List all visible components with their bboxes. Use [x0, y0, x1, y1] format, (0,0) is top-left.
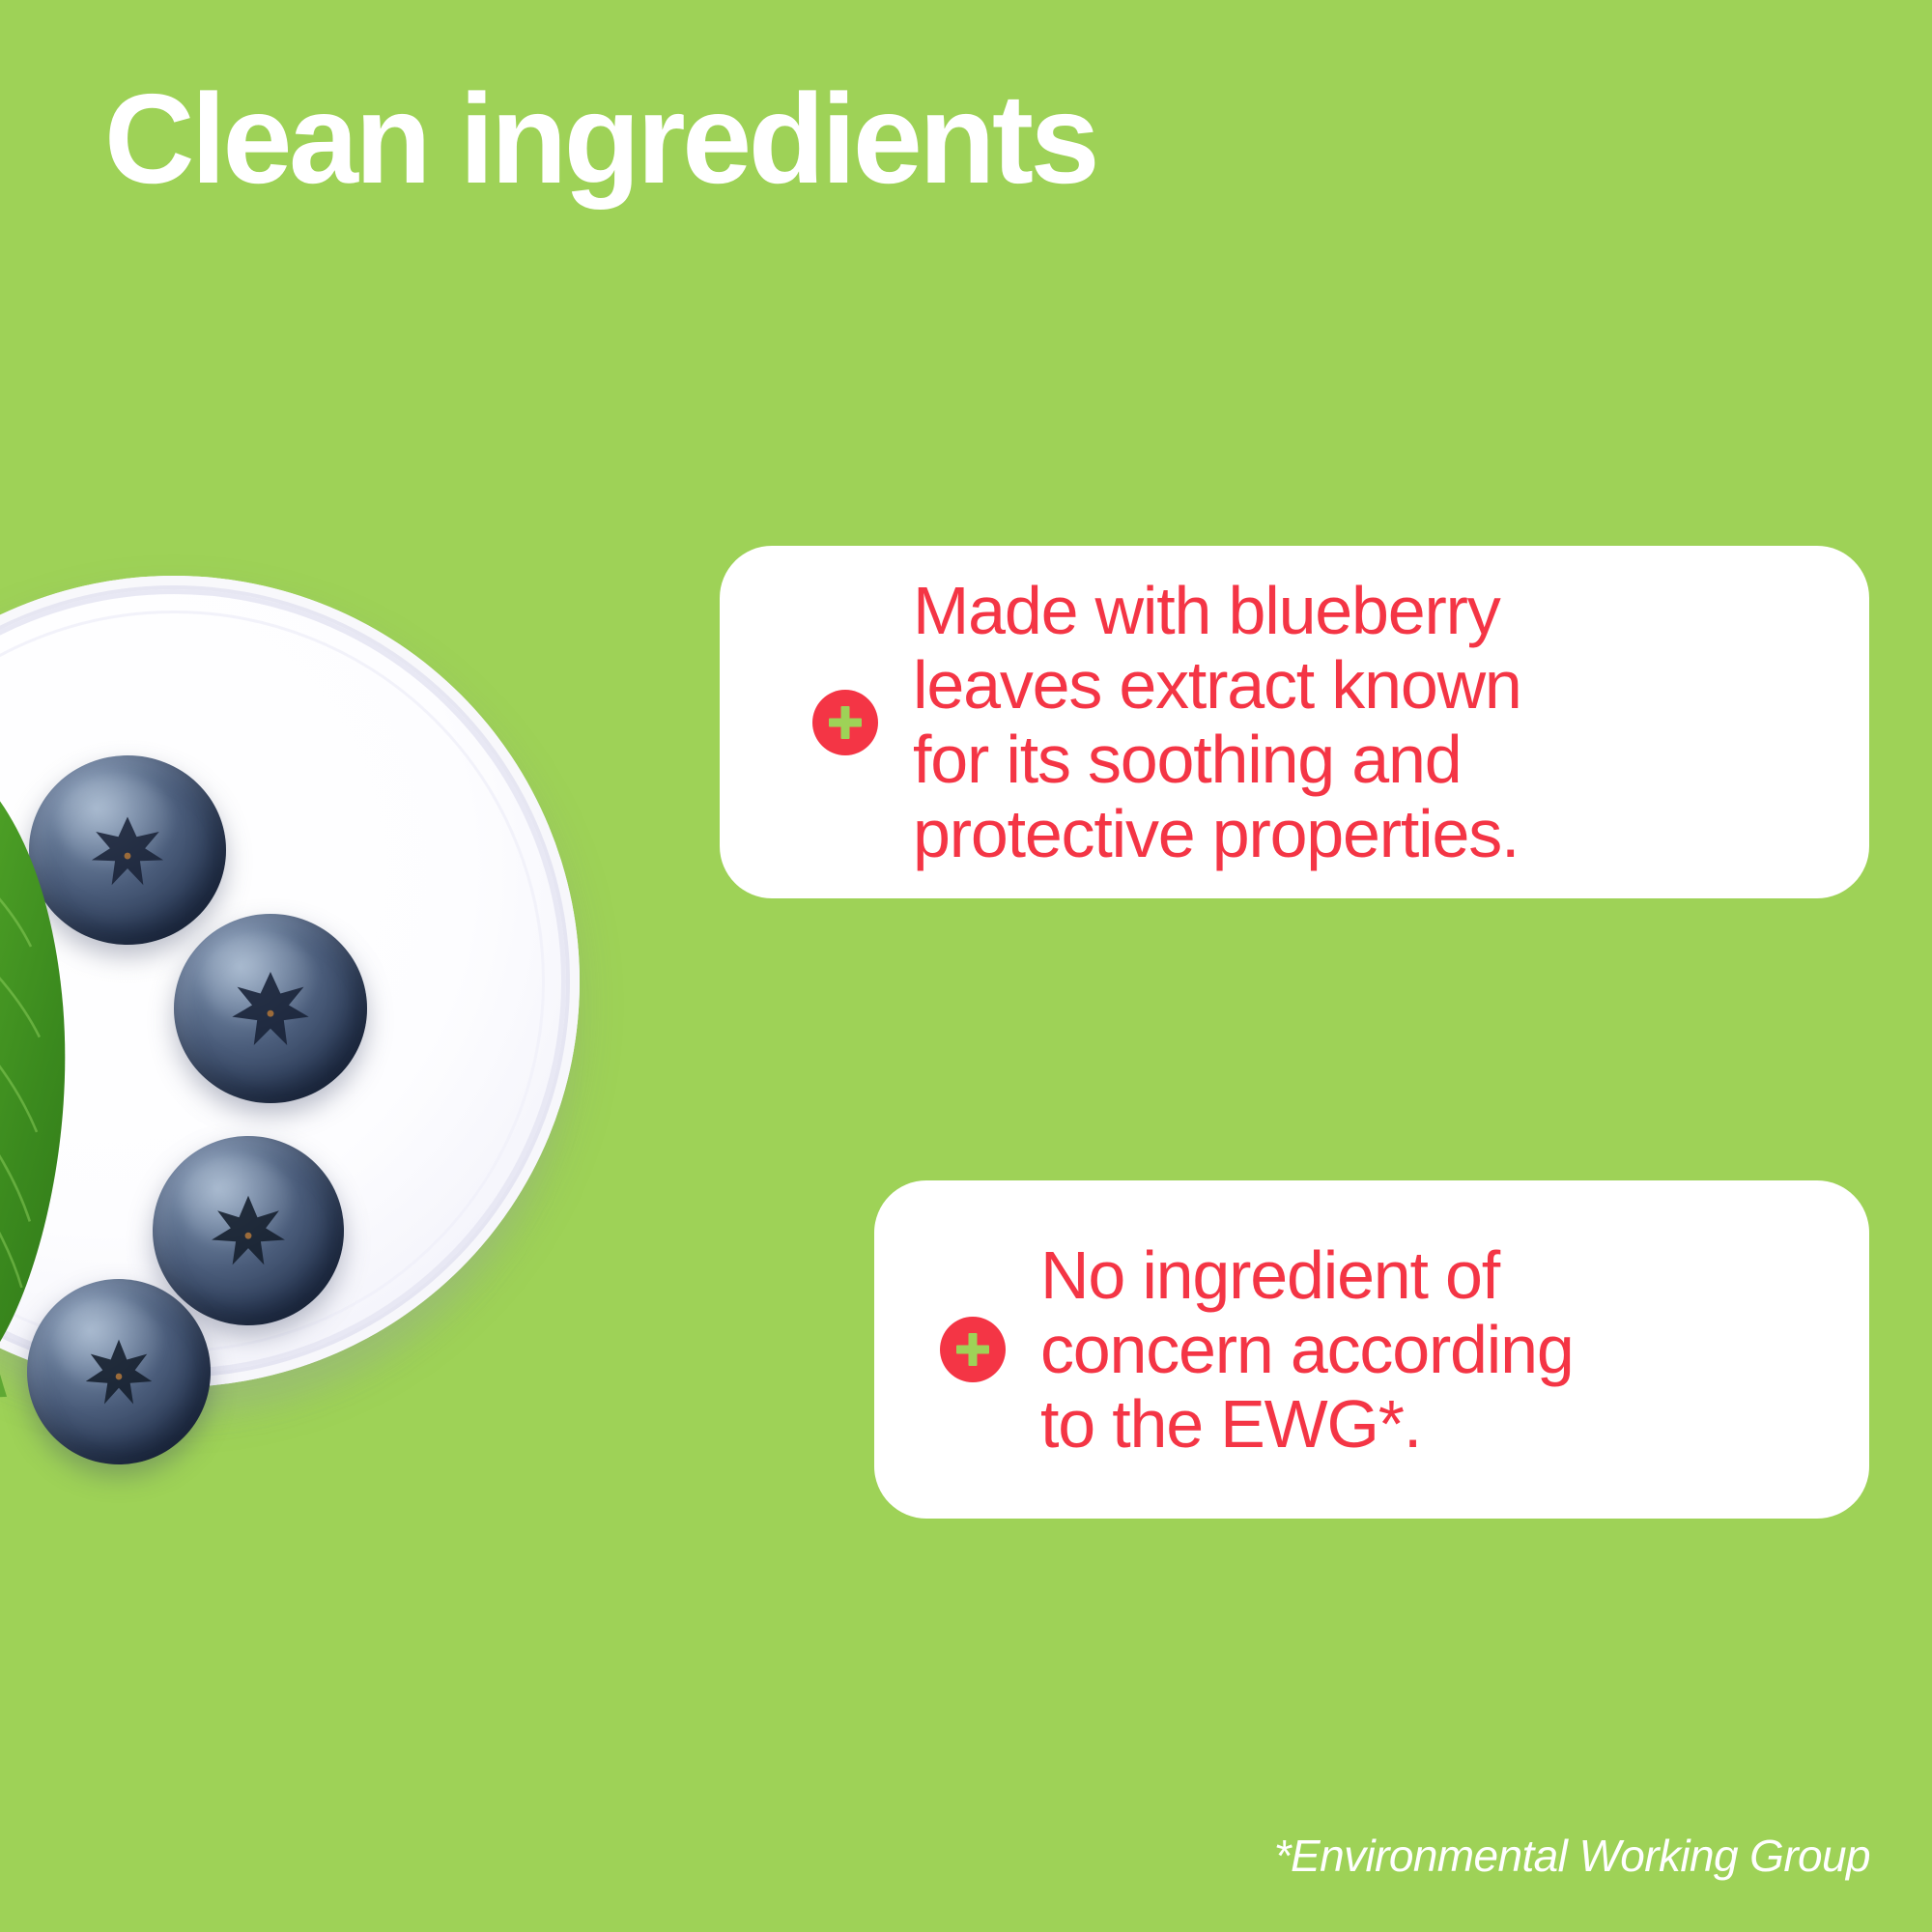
- card-line: leaves extract known: [913, 648, 1831, 723]
- plus-circle-icon: [812, 690, 878, 755]
- card-line: for its soothing and: [913, 723, 1831, 797]
- page-title: Clean ingredients: [104, 75, 1524, 203]
- feature-card-text: Made with blueberry leaves extract known…: [913, 574, 1831, 871]
- feature-card-no-ingredient-of-concern: No ingredient of concern according to th…: [874, 1180, 1869, 1519]
- product-photo: [0, 576, 599, 1445]
- blueberry-leaf: [0, 710, 216, 1406]
- berry-crown-icon: [228, 967, 313, 1050]
- card-line: No ingredient of: [1040, 1238, 1831, 1313]
- card-line: concern according: [1040, 1313, 1831, 1387]
- footnote: *Environmental Working Group: [1274, 1830, 1870, 1882]
- feature-card-blueberry-extract: Made with blueberry leaves extract known…: [720, 546, 1869, 898]
- poster-canvas: Clean ingredients: [0, 0, 1932, 1932]
- plus-circle-icon: [940, 1317, 1006, 1382]
- card-line: to the EWG*.: [1040, 1387, 1831, 1462]
- berry-crown-icon: [206, 1189, 290, 1272]
- feature-card-text: No ingredient of concern according to th…: [1040, 1238, 1831, 1462]
- card-line: protective properties.: [913, 797, 1831, 871]
- card-line: Made with blueberry: [913, 574, 1831, 648]
- blueberry: [174, 914, 367, 1103]
